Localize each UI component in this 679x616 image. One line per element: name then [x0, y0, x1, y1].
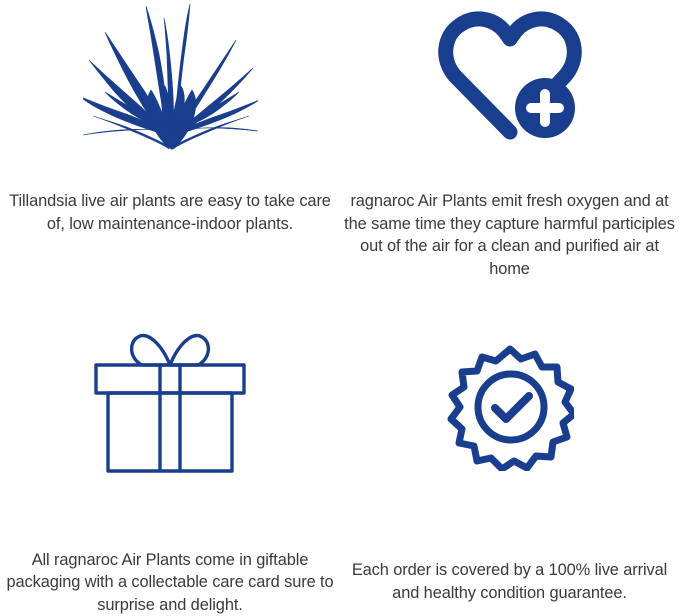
air-plant-icon: [83, 2, 258, 152]
feature-caption: Tillandsia live air plants are easy to t…: [0, 152, 340, 235]
feature-caption: Each order is covered by a 100% live arr…: [340, 506, 679, 604]
verified-badge-icon-wrap: [340, 308, 679, 506]
feature-cell-air-plant: Tillandsia live air plants are easy to t…: [0, 0, 340, 308]
verified-badge-icon: [446, 343, 574, 471]
gift-box-icon-wrap: [0, 308, 340, 496]
gift-box-icon: [92, 329, 248, 475]
feature-cell-gift-box: All ragnaroc Air Plants come in giftable…: [0, 308, 340, 616]
feature-caption: All ragnaroc Air Plants come in giftable…: [0, 496, 340, 616]
feature-cell-verified-badge: Each order is covered by a 100% live arr…: [340, 308, 679, 616]
feature-caption: ragnaroc Air Plants emit fresh oxygen an…: [340, 152, 679, 280]
heart-plus-icon-wrap: [340, 0, 679, 152]
feature-cell-heart-plus: ragnaroc Air Plants emit fresh oxygen an…: [340, 0, 679, 308]
heart-plus-icon: [435, 2, 585, 152]
air-plant-icon-wrap: [0, 0, 340, 152]
feature-grid: Tillandsia live air plants are easy to t…: [0, 0, 679, 616]
